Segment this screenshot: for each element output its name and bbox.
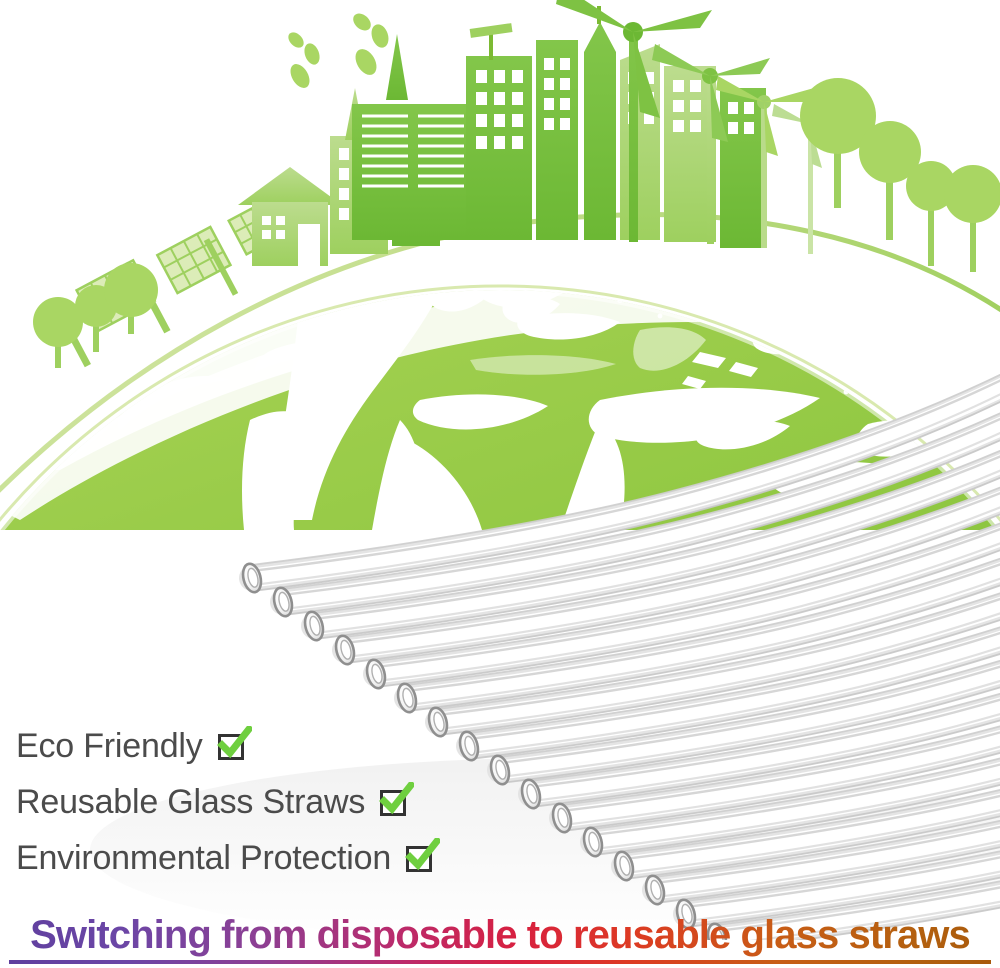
feature-label: Eco Friendly (16, 729, 203, 763)
factory-with-leaf-smoke (350, 10, 408, 100)
checkbox-checked-icon (216, 729, 250, 763)
straw (290, 411, 1000, 642)
wind-turbine (716, 76, 814, 248)
product-image-canvas: Eco Friendly Reusable Glass Straws Envir… (0, 0, 1000, 968)
warehouse (352, 104, 472, 240)
tower-building (536, 40, 578, 240)
globe-horizon-arc (0, 215, 1000, 520)
apartment-block (330, 136, 388, 254)
tree (906, 161, 956, 266)
straw (383, 483, 1000, 714)
eco-city-skyline (33, 0, 1000, 368)
tree (800, 78, 876, 208)
antenna (470, 23, 513, 60)
globe-sphere (0, 286, 1000, 530)
straw (259, 387, 1000, 618)
straw (600, 651, 1000, 882)
tree (33, 297, 83, 368)
leaf-smoke (350, 10, 391, 79)
straw (693, 723, 1000, 940)
feature-label: Environmental Protection (16, 841, 391, 875)
checkbox-checked-icon (404, 841, 438, 875)
apartment-block (392, 106, 440, 246)
tagline: Switching from disposable to reusable gl… (0, 914, 1000, 964)
solar-panel (132, 227, 230, 333)
straw (228, 363, 1000, 594)
straw (662, 699, 1000, 930)
house (238, 167, 342, 266)
factory-with-leaf-smoke (285, 29, 365, 140)
straw (507, 579, 1000, 810)
feature-item-eco-friendly: Eco Friendly (16, 718, 576, 774)
tree (75, 285, 117, 352)
wind-turbine (772, 104, 852, 254)
apartment-block (466, 56, 532, 240)
straw (538, 603, 1000, 834)
feature-list: Eco Friendly Reusable Glass Straws Envir… (16, 718, 576, 886)
leaf-smoke (285, 29, 322, 91)
checkbox-checked-icon (378, 785, 412, 819)
feature-item-reusable-glass-straws: Reusable Glass Straws (16, 774, 576, 830)
tower-building (584, 6, 616, 240)
tree (944, 165, 1000, 272)
green-eco-globe-illustration (0, 0, 1000, 530)
straw (569, 627, 1000, 858)
feature-label: Reusable Glass Straws (16, 785, 365, 819)
wind-turbine (652, 44, 770, 244)
wind-turbine (556, 0, 712, 242)
feature-item-environmental-protection: Environmental Protection (16, 830, 576, 886)
tree (859, 121, 921, 240)
solar-panel (52, 260, 155, 367)
straw (414, 507, 1000, 738)
apartment-block (664, 66, 716, 242)
straw (631, 675, 1000, 906)
apartment-block (720, 88, 766, 248)
globe-continents (0, 200, 1000, 530)
tagline-underline (9, 960, 991, 964)
tagline-text: Switching from disposable to reusable gl… (0, 914, 1000, 957)
straw (352, 459, 1000, 690)
tree (104, 263, 158, 334)
solar-panel (204, 196, 293, 295)
straw (321, 435, 1000, 666)
tower-building (620, 44, 660, 240)
